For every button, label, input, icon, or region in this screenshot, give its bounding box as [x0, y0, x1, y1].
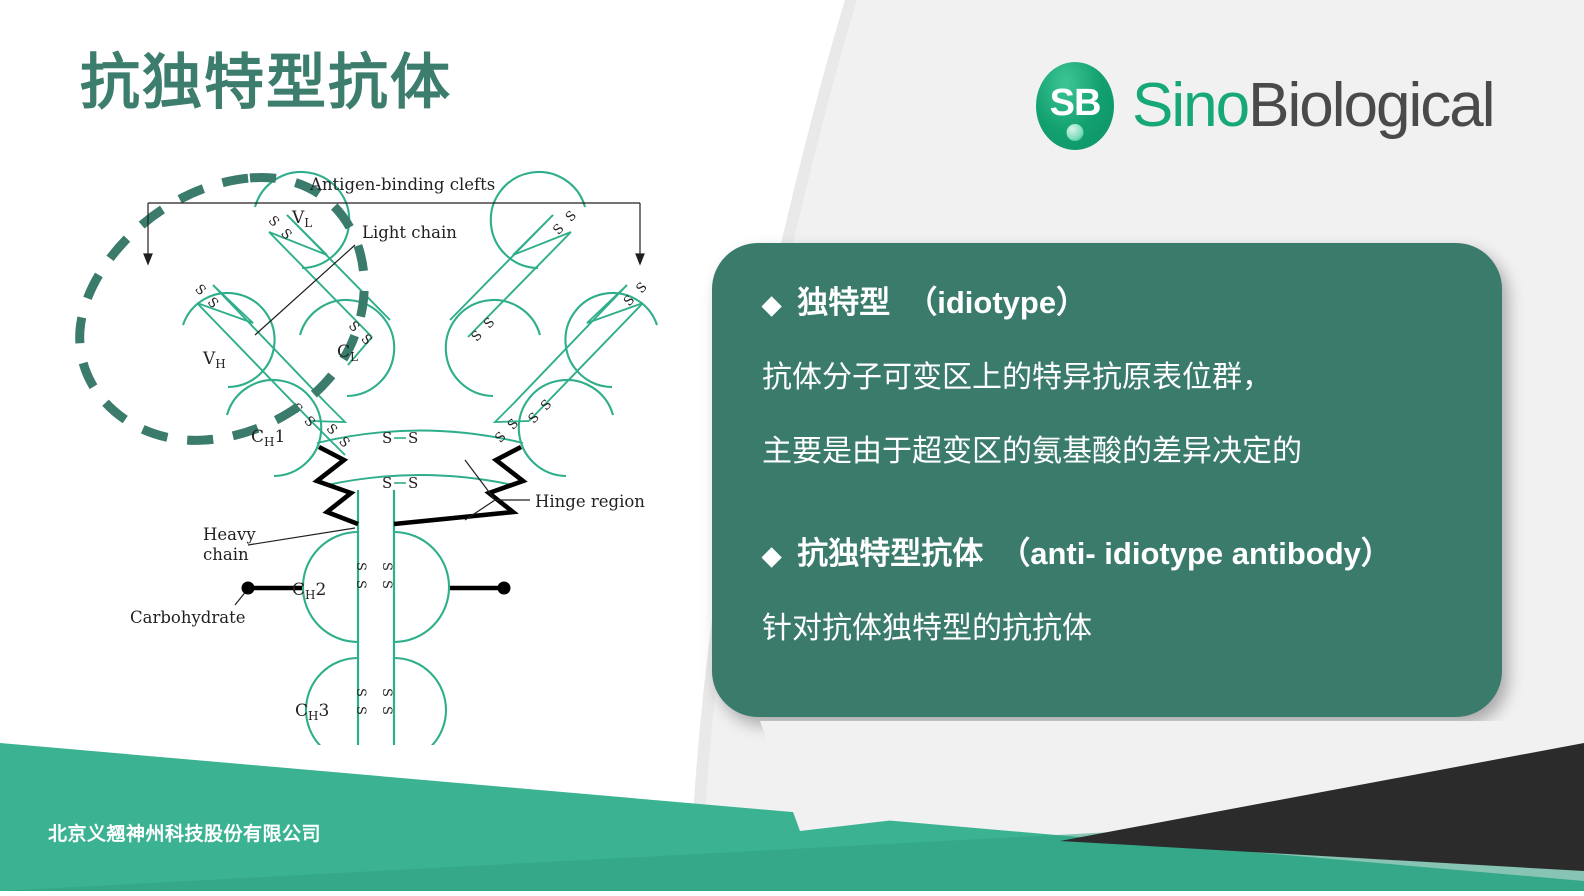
disulfide-label: S [379, 580, 394, 589]
disulfide-label: S [379, 688, 394, 697]
disulfide-label: S [634, 280, 651, 297]
brand-word-sino: Sino [1132, 75, 1248, 137]
disulfide-label: S [526, 410, 543, 427]
disulfide-label: S [563, 208, 580, 225]
diagram-label-light-chain-line1: Light chain [362, 223, 457, 242]
disulfide-label-center-upper: S [382, 429, 392, 447]
disulfide-label: S [191, 282, 208, 299]
disulfide-label: S [492, 429, 509, 446]
bullet-heading-1-en: （idiotype） [906, 277, 1087, 322]
bullet-body-1-line-1: 抗体分子可变区上的特异抗原表位群， [762, 352, 1462, 396]
content-card: ◆ 独特型 （idiotype） 抗体分子可变区上的特异抗原表位群， 主要是由于… [712, 243, 1502, 717]
domain-circle-vh [183, 293, 275, 387]
disulfide-label: S [353, 562, 368, 571]
disulfide-label: S [358, 332, 375, 349]
bullet-heading-2-cn: 抗独特型抗体 [797, 528, 983, 573]
idiotype-highlight-ellipse [80, 177, 365, 440]
disulfide-label: S [538, 397, 555, 414]
light-chain-bar-right [450, 215, 571, 337]
disulfide-label-center-upper2: S [408, 429, 418, 447]
arrowhead-clefts-right [636, 254, 644, 264]
carbohydrate-dot-right [498, 582, 511, 595]
bullet-heading-1: ◆ 独特型 （idiotype） [762, 277, 1462, 322]
disulfide-label: S [345, 319, 362, 336]
leader-heavy-chain [248, 528, 355, 545]
diagram-label-vh: VH [202, 349, 226, 371]
disulfide-label: S [481, 315, 498, 332]
diamond-bullet-icon: ◆ [762, 293, 781, 318]
disulfide-label: S [301, 414, 318, 431]
brand-word-biological: Biological [1248, 75, 1493, 137]
diagram-label-ch2: CH2 [292, 580, 326, 602]
disulfide-label-center-lower2: S [408, 474, 418, 492]
footer-company-name: 北京义翘神州科技股份有限公司 [48, 819, 321, 846]
diagram-label-heavy-chain: Heavy [203, 525, 256, 544]
disulfide-label: S [379, 706, 394, 715]
hinge-arc-lower [327, 475, 513, 485]
bullet-heading-2-en: （anti- idiotype antibody） [999, 528, 1392, 573]
sb-monogram-dot-icon [1067, 124, 1084, 141]
arrowhead-clefts-left [144, 254, 152, 264]
sino-biological-logo: SB Sino Biological [1036, 62, 1493, 150]
disulfide-label-center-lower: S [382, 474, 392, 492]
domain-circle-ch2-right [394, 532, 449, 642]
disulfide-label: S [469, 328, 486, 345]
diagram-label-ch3: CH3 [295, 701, 329, 723]
disulfide-label: S [379, 562, 394, 571]
hinge-zigzag-left [317, 447, 358, 524]
footer-decoration: 北京义翘神州科技股份有限公司 [0, 721, 1584, 891]
disulfide-label: S [621, 293, 638, 310]
bullet-heading-2: ◆ 抗独特型抗体 （anti- idiotype antibody） [762, 528, 1462, 573]
diagram-label-hinge-region: Hinge region [535, 492, 645, 511]
diagram-label-ch1: CH1 [251, 427, 285, 449]
diagram-label-antigen-binding-clefts: Antigen-binding clefts [309, 175, 495, 194]
brand-wordmark: Sino Biological [1132, 75, 1493, 137]
disulfide-label: S [353, 580, 368, 589]
domain-circle-ch2-left [303, 532, 358, 642]
bullet-heading-1-cn: 独特型 [797, 277, 890, 322]
spacer [762, 470, 1462, 528]
domain-circle-cl-right [446, 300, 540, 396]
disulfide-label: S [353, 688, 368, 697]
domain-circle-vh-right [565, 293, 657, 387]
diagram-label-heavy-chain-2: chain [203, 545, 249, 564]
carbohydrate-dot-left [242, 582, 255, 595]
domain-circle-ch1-right [519, 380, 613, 476]
heavy-chain-bar-right [514, 285, 643, 421]
diamond-bullet-icon-2: ◆ [762, 544, 781, 569]
diagram-label-carbohydrate: Carbohydrate [130, 608, 245, 627]
bullet-body-2-line-1: 针对抗体独特型的抗抗体 [762, 603, 1462, 647]
sb-monogram-icon: SB [1036, 62, 1114, 150]
disulfide-label: S [353, 706, 368, 715]
antibody-structure-diagram: SS SS SS SS SS SS SS SS SS SS S S S S SS… [55, 160, 685, 745]
bullet-body-1-line-2: 主要是由于超变区的氨基酸的差异决定的 [762, 426, 1462, 470]
disulfide-label: S [550, 221, 567, 238]
diagram-label-vl: VL [291, 208, 312, 230]
page-title: 抗独特型抗体 [80, 48, 452, 117]
disulfide-label: S [265, 213, 282, 230]
